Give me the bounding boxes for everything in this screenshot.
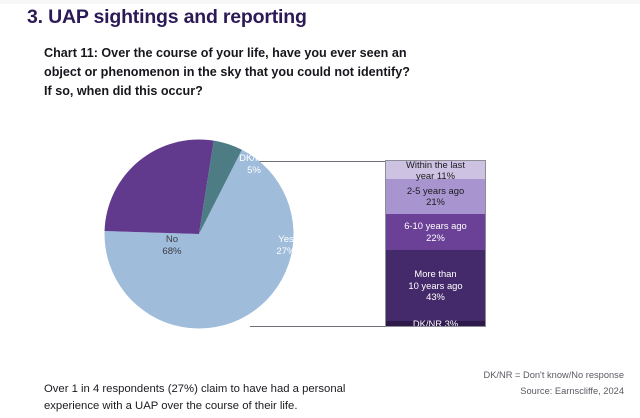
stacked-bar-segment-label: 2-5 years ago21% — [407, 185, 464, 208]
chart-question-line-3: If so, when did this occur? — [44, 82, 524, 101]
chart-question-line-1: Chart 11: Over the course of your life, … — [44, 44, 524, 63]
stacked-bar-segment-label: Within the lastyear 11% — [406, 160, 465, 182]
source-block: DK/NR = Don't know/No response Source: E… — [364, 368, 624, 400]
pie-slice-yes — [105, 139, 214, 234]
source-attribution: Source: Earnscliffe, 2024 — [364, 384, 624, 400]
stacked-bar-segment-2-5-years-ago: 2-5 years ago21% — [386, 179, 485, 214]
stacked-bar-segment-6-10-years-ago: 6-10 years ago22% — [386, 214, 485, 250]
pie-chart: No 68% Yes 27% DK/NR 5% — [104, 139, 294, 329]
stacked-bar-segment-label: 6-10 years ago22% — [404, 220, 467, 243]
stacked-bar-segment-label: More than10 years ago43% — [408, 268, 462, 302]
pie-chart-svg — [104, 139, 294, 329]
chart-question: Chart 11: Over the course of your life, … — [44, 44, 524, 101]
stacked-bar-segment-dk-nr: DK/NR 3% — [386, 321, 485, 326]
top-band — [0, 0, 640, 4]
slide-canvas: 3. UAP sightings and reporting Chart 11:… — [0, 0, 640, 418]
takeaway-line-2: experience with a UAP over the course of… — [44, 398, 444, 415]
stacked-bar-segment-more-than-10-years-ago: More than10 years ago43% — [386, 250, 485, 321]
stacked-bar-segment-label: DK/NR 3% — [413, 318, 458, 327]
stacked-bar-chart: Within the lastyear 11%2-5 years ago21%6… — [385, 160, 486, 327]
page-title: 3. UAP sightings and reporting — [27, 6, 307, 29]
stacked-bar-segment-within-the-last-year: Within the lastyear 11% — [386, 161, 485, 179]
chart-question-line-2: object or phenomenon in the sky that you… — [44, 63, 524, 82]
footnote-dknr: DK/NR = Don't know/No response — [364, 368, 624, 384]
